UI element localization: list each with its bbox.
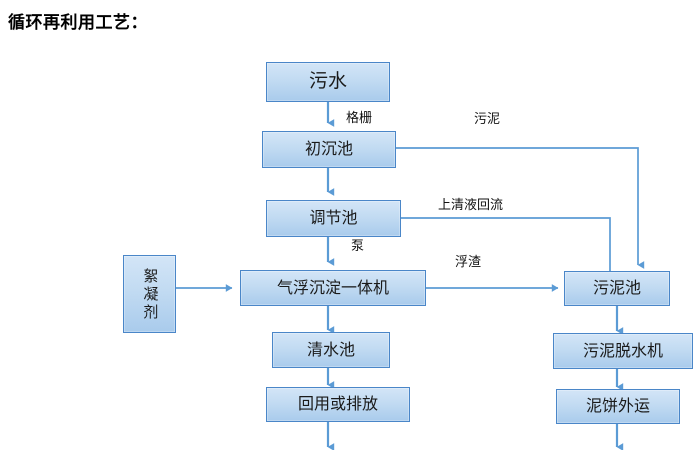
node-flocculant[interactable]: 絮凝剂 [123, 255, 176, 333]
edge-label-pump: 泵 [351, 240, 364, 253]
node-wastewater[interactable]: 污水 [266, 62, 390, 102]
page-title: 循环再利用工艺： [8, 8, 148, 33]
node-sludge-dewatering-machine-label: 污泥脱水机 [583, 343, 663, 360]
edge-label-supernatant-return: 上清液回流 [438, 199, 503, 212]
edge-sludge-tank-to-regulating-tank [401, 218, 610, 271]
node-sludge-tank-label: 污泥池 [593, 280, 641, 297]
node-clean-water-tank[interactable]: 清水池 [272, 332, 390, 368]
node-sludge-dewatering-machine[interactable]: 污泥脱水机 [553, 333, 693, 369]
node-reuse-or-discharge-label: 回用或排放 [298, 396, 378, 413]
node-regulating-tank[interactable]: 调节池 [266, 200, 401, 237]
edge-label-sludge: 污泥 [474, 113, 500, 126]
node-air-flotation-unit-label: 气浮沉淀一体机 [277, 280, 389, 297]
node-wastewater-label: 污水 [309, 72, 347, 92]
node-mud-cake-transport-label: 泥饼外运 [586, 398, 650, 415]
node-primary-sedimentation-tank[interactable]: 初沉池 [262, 131, 396, 168]
node-primary-sedimentation-tank-label: 初沉池 [305, 141, 353, 158]
node-regulating-tank-label: 调节池 [309, 210, 357, 227]
edge-primary-tank-to-sludge-tank [396, 148, 638, 265]
edge-label-scum: 浮渣 [455, 256, 481, 269]
node-reuse-or-discharge[interactable]: 回用或排放 [266, 387, 410, 422]
node-flocculant-label: 絮凝剂 [142, 268, 158, 322]
node-air-flotation-unit[interactable]: 气浮沉淀一体机 [240, 270, 426, 306]
flowchart-diagram: 循环再利用工艺： [0, 0, 700, 450]
node-sludge-tank[interactable]: 污泥池 [564, 271, 670, 306]
node-mud-cake-transport[interactable]: 泥饼外运 [556, 389, 680, 424]
edge-label-grating: 格栅 [346, 112, 372, 125]
node-clean-water-tank-label: 清水池 [307, 342, 355, 359]
